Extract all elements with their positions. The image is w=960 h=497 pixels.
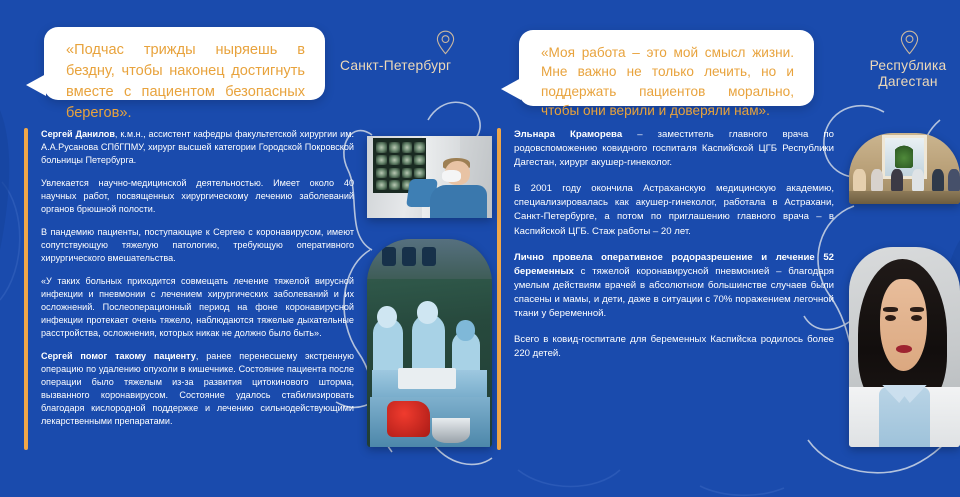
profile-column-left: Сергей Данилов, к.м.н., ассистент кафедр… [24,128,354,438]
paragraph: Всего в ковид-госпитале для беременных К… [514,333,834,361]
map-pin-icon [900,30,919,55]
profile-column-right: Эльнара Краморева – заместитель главного… [497,128,834,373]
person-name: Эльнара Краморева [514,129,622,140]
paragraph-text: Увлекается научно-медицинской деятельнос… [41,178,354,214]
slide-canvas: «Подчас трижды ныряешь в бездну, чтобы н… [0,0,960,497]
paragraph: Сергей Данилов, к.м.н., ассистент кафедр… [41,128,354,167]
bubble-tail-icon [501,78,521,100]
paragraph-text: В пандемию пациенты, поступающие к Серге… [41,227,354,263]
person-name: Сергей Данилов [41,129,115,139]
quote-bubble-left: «Подчас трижды ныряешь в бездну, чтобы н… [44,27,325,100]
paragraph: Эльнара Краморева – заместитель главного… [514,128,834,170]
map-pin-icon [436,30,455,55]
paragraph: Лично провела оперативное родоразрешение… [514,251,834,321]
location-label-right: Республика Дагестан [858,58,958,91]
highlight-phrase: Сергей помог такому пациенту [41,351,196,361]
paragraph-text: В 2001 году окончила Астраханскую медици… [514,183,834,236]
accent-bar-left [24,128,28,450]
photo-portrait [849,247,960,447]
photo-doctor-xray [367,136,492,218]
accent-bar-right [497,128,501,450]
location-left: Санкт-Петербург [340,30,476,74]
quote-bubble-right: «Моя работа – это мой смысл жизни. Мне в… [519,30,814,106]
location-label-left: Санкт-Петербург [340,58,476,74]
paragraph: В 2001 году окончила Астраханскую медици… [514,182,834,238]
quote-text-right: «Моя работа – это мой смысл жизни. Мне в… [541,43,794,120]
paragraph-text: «У таких больных приходится совмещать ле… [41,276,354,338]
paragraph: «У таких больных приходится совмещать ле… [41,275,354,340]
photo-meeting-room [849,133,960,204]
bubble-tail-icon [26,74,46,96]
quote-text-left: «Подчас трижды ныряешь в бездну, чтобы н… [66,40,305,125]
paragraph-text: Всего в ковид-госпитале для беременных К… [514,334,834,359]
photo-operating-room [367,239,492,447]
paragraph: Увлекается научно-медицинской деятельнос… [41,177,354,216]
profile-text-left: Сергей Данилов, к.м.н., ассистент кафедр… [41,128,354,428]
profile-text-right: Эльнара Краморева – заместитель главного… [514,128,834,361]
location-right: Республика Дагестан [858,30,958,91]
paragraph: В пандемию пациенты, поступающие к Серге… [41,226,354,265]
paragraph: Сергей помог такому пациенту, ранее пере… [41,350,354,428]
paragraph-text: , ранее перенесшему экстренную операцию … [41,351,354,426]
